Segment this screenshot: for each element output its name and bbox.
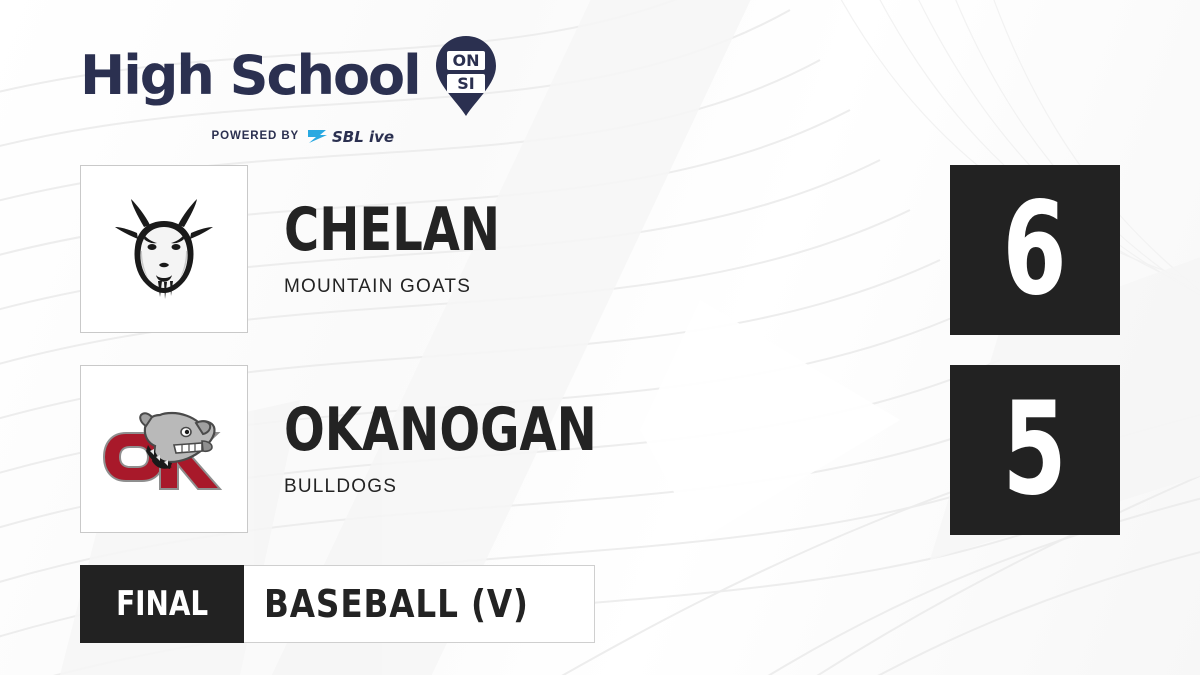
on-si-pin-icon: ON SI bbox=[432, 34, 500, 118]
team-logo-box-1 bbox=[80, 165, 248, 333]
team-info-2: OKANOGAN BULLDOGS bbox=[284, 400, 675, 498]
team-row-2: OKANOGAN BULLDOGS bbox=[80, 365, 675, 533]
brand-logo-row: High School ON SI bbox=[80, 34, 500, 118]
game-state-badge: FINAL bbox=[80, 565, 244, 643]
team-logo-box-2 bbox=[80, 365, 248, 533]
svg-text:SI: SI bbox=[457, 74, 474, 93]
team-mascot-1: MOUNTAIN GOATS bbox=[284, 276, 554, 298]
powered-by-label: POWERED BY bbox=[212, 130, 300, 142]
sblive-logo: SBL ive bbox=[306, 126, 416, 146]
mountain-goat-head-icon bbox=[104, 189, 224, 309]
brand-logo: High School ON SI POWERED BY SBL ive bbox=[80, 34, 500, 146]
brand-title: High School bbox=[80, 49, 420, 103]
score-value-team-2: 5 bbox=[1003, 386, 1067, 514]
score-value-team-1: 6 bbox=[1003, 186, 1067, 314]
powered-by-row: POWERED BY SBL ive bbox=[80, 126, 500, 146]
team-mascot-2: BULLDOGS bbox=[284, 476, 675, 498]
score-box-team-1: 6 bbox=[950, 165, 1120, 335]
svg-text:ive: ive bbox=[369, 128, 394, 146]
status-bar: FINAL BASEBALL (V) bbox=[80, 565, 595, 643]
team-row-1: CHELAN MOUNTAIN GOATS bbox=[80, 165, 554, 333]
team-info-1: CHELAN MOUNTAIN GOATS bbox=[284, 200, 554, 298]
game-state-label: FINAL bbox=[116, 587, 208, 621]
scoreboard-graphic: High School ON SI POWERED BY SBL ive bbox=[0, 0, 1200, 675]
svg-text:ON: ON bbox=[452, 51, 479, 70]
sport-label-container: BASEBALL (V) bbox=[244, 565, 595, 643]
bulldog-ok-monogram-icon bbox=[98, 389, 230, 509]
sport-label: BASEBALL (V) bbox=[264, 585, 529, 623]
team-name-1: CHELAN bbox=[284, 200, 500, 260]
svg-text:SBL: SBL bbox=[332, 128, 364, 146]
team-name-2: OKANOGAN bbox=[284, 400, 597, 460]
score-box-team-2: 5 bbox=[950, 365, 1120, 535]
